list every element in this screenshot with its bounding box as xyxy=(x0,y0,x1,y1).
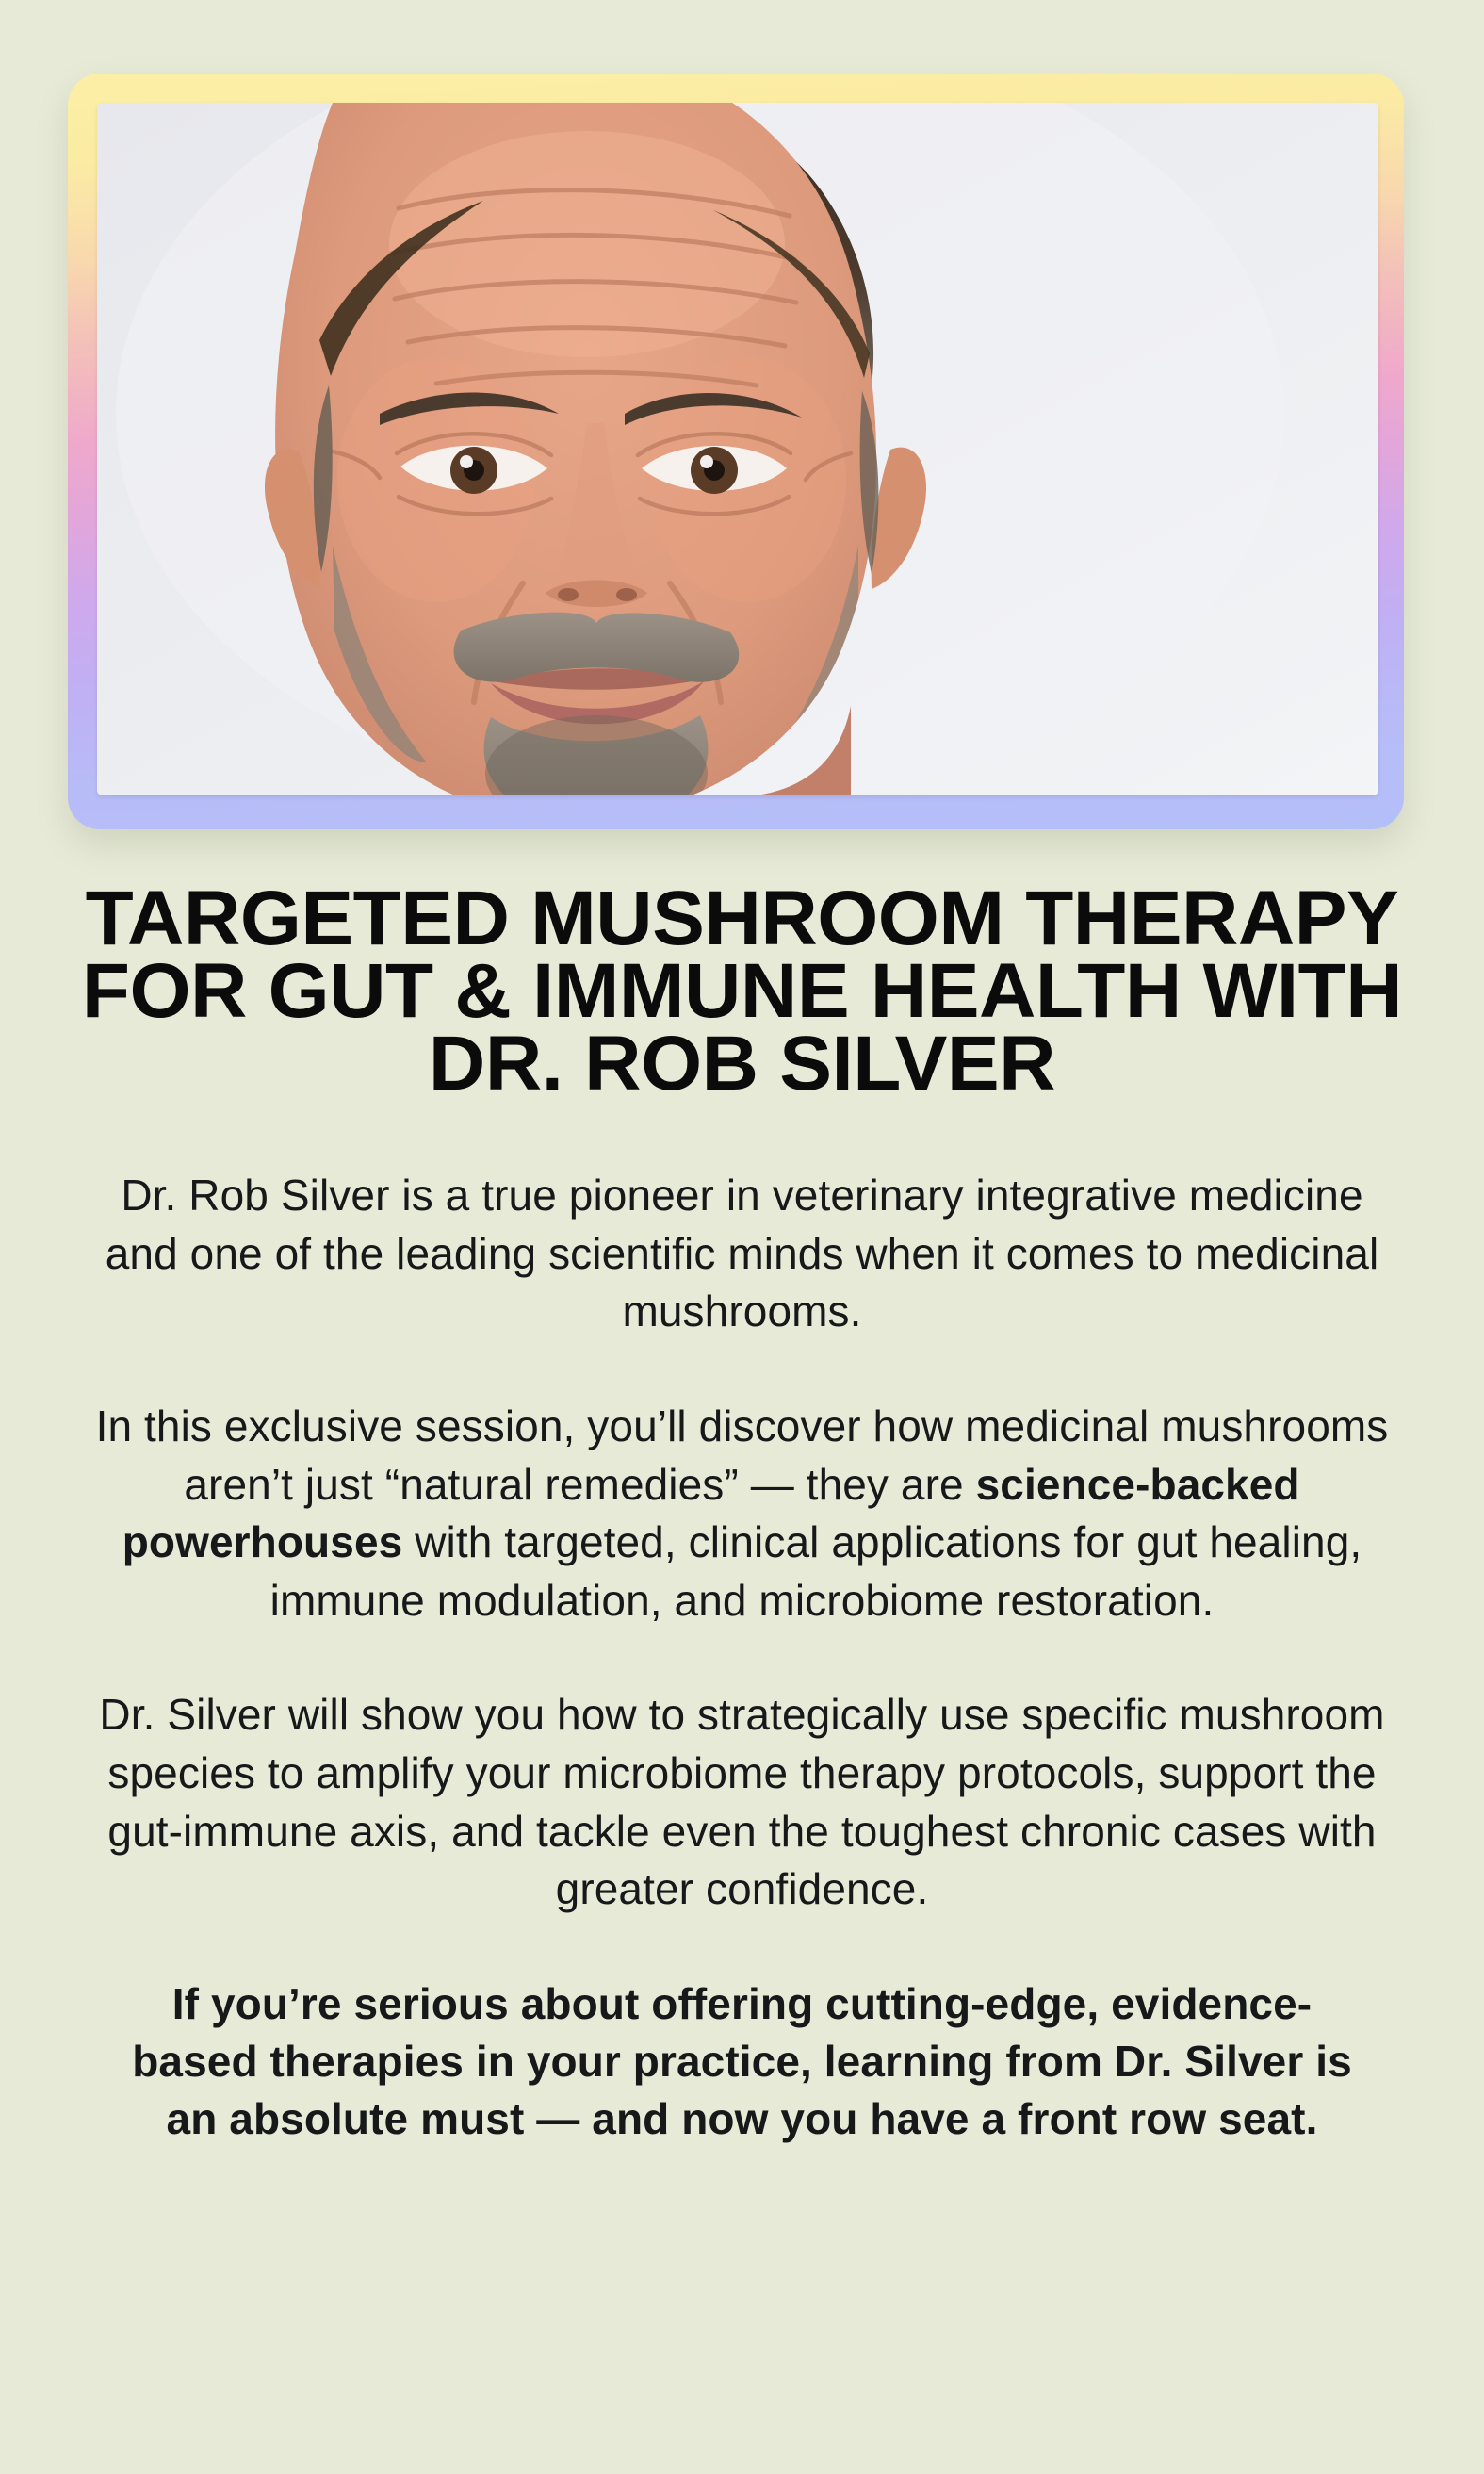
title-block: TARGETED MUSHROOM THERAPY FOR GUT & IMMU… xyxy=(0,882,1484,1100)
paragraph-session: In this exclusive session, you’ll discov… xyxy=(90,1398,1394,1630)
body-copy: Dr. Rob Silver is a true pioneer in vete… xyxy=(0,1167,1484,2148)
paragraph-intro: Dr. Rob Silver is a true pioneer in vete… xyxy=(90,1167,1394,1341)
speaker-portrait-photo xyxy=(97,103,1378,795)
paragraph-strategy: Dr. Silver will show you how to strategi… xyxy=(90,1686,1394,1919)
page-title: TARGETED MUSHROOM THERAPY FOR GUT & IMMU… xyxy=(7,882,1478,1100)
paragraph-closing: If you’re serious about offering cutting… xyxy=(90,1975,1394,2149)
paragraph-session-tail: with targeted, clinical applications for… xyxy=(270,1517,1362,1625)
promo-page: TARGETED MUSHROOM THERAPY FOR GUT & IMMU… xyxy=(0,0,1484,2474)
hero-photo-frame xyxy=(68,74,1404,829)
